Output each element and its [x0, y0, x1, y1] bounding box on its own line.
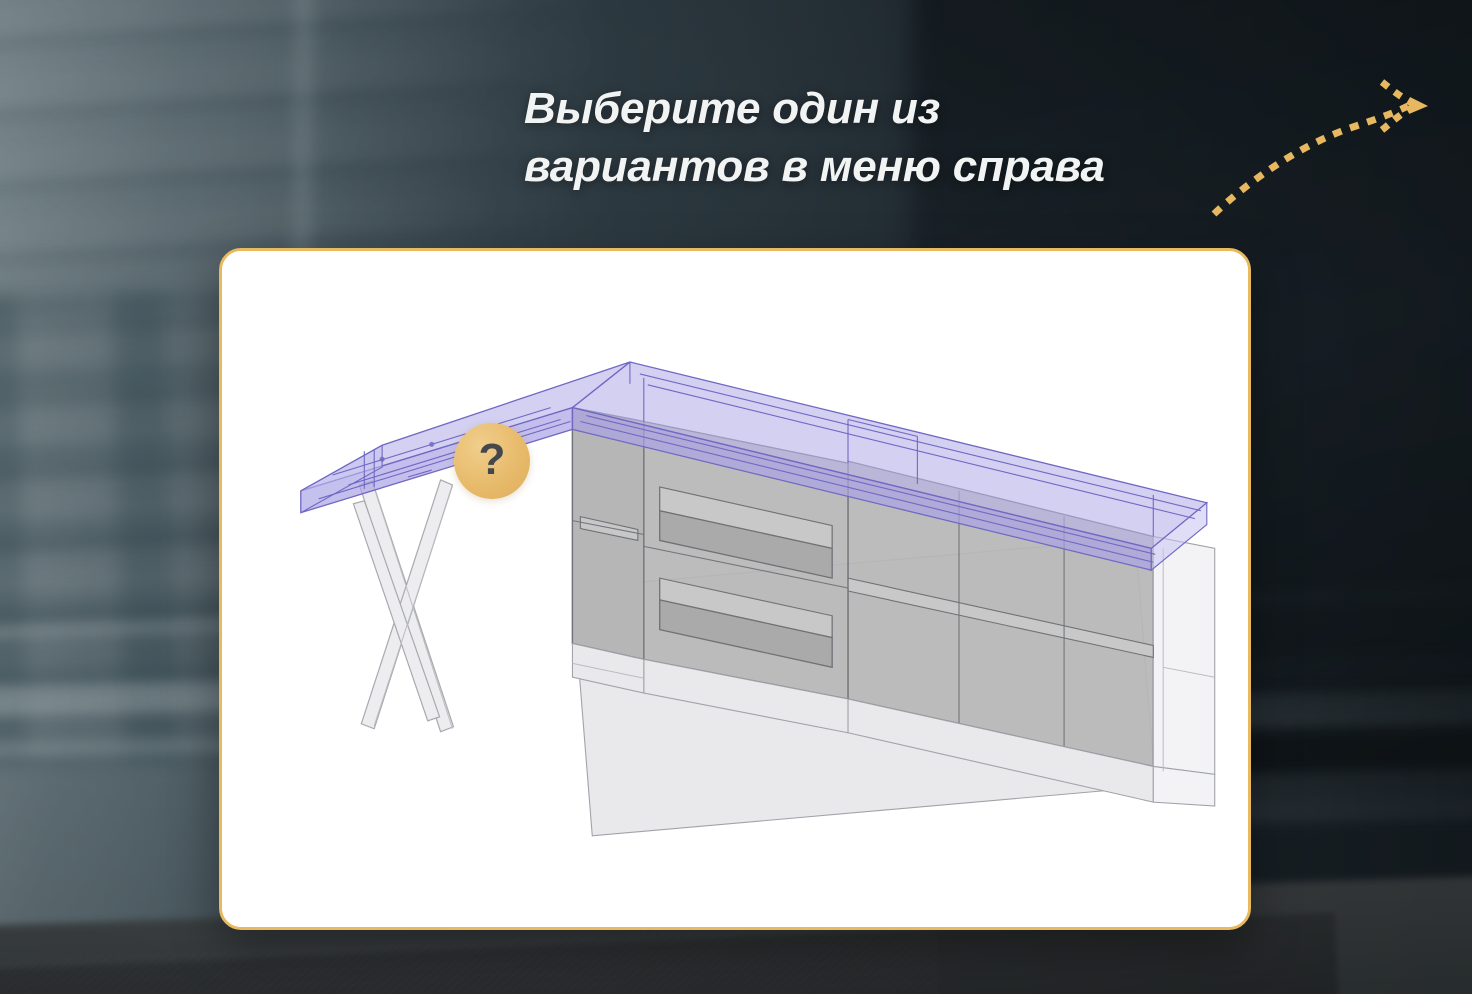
model-viewport[interactable]: .ct { fill:#b8b3ea; fill-opacity:.62; st…	[222, 251, 1248, 927]
arrow-shaft	[1214, 106, 1408, 214]
help-badge[interactable]: ?	[454, 423, 530, 499]
model-viewer-card[interactable]: .ct { fill:#b8b3ea; fill-opacity:.62; st…	[219, 248, 1251, 930]
arrow-head-upper	[1382, 82, 1414, 104]
page-title: Выберите один из вариантов в меню справа	[524, 80, 1184, 196]
arrow-tip	[1409, 97, 1428, 114]
app-screen: Выберите один из вариантов в меню справа…	[0, 0, 1472, 994]
dashed-curved-arrow-icon	[1196, 78, 1454, 234]
x-leg	[353, 480, 453, 732]
base-cabinet-left	[572, 408, 643, 693]
cabinet-3d-wireframe: .ct { fill:#b8b3ea; fill-opacity:.62; st…	[222, 251, 1248, 927]
question-mark-icon: ?	[479, 438, 506, 482]
